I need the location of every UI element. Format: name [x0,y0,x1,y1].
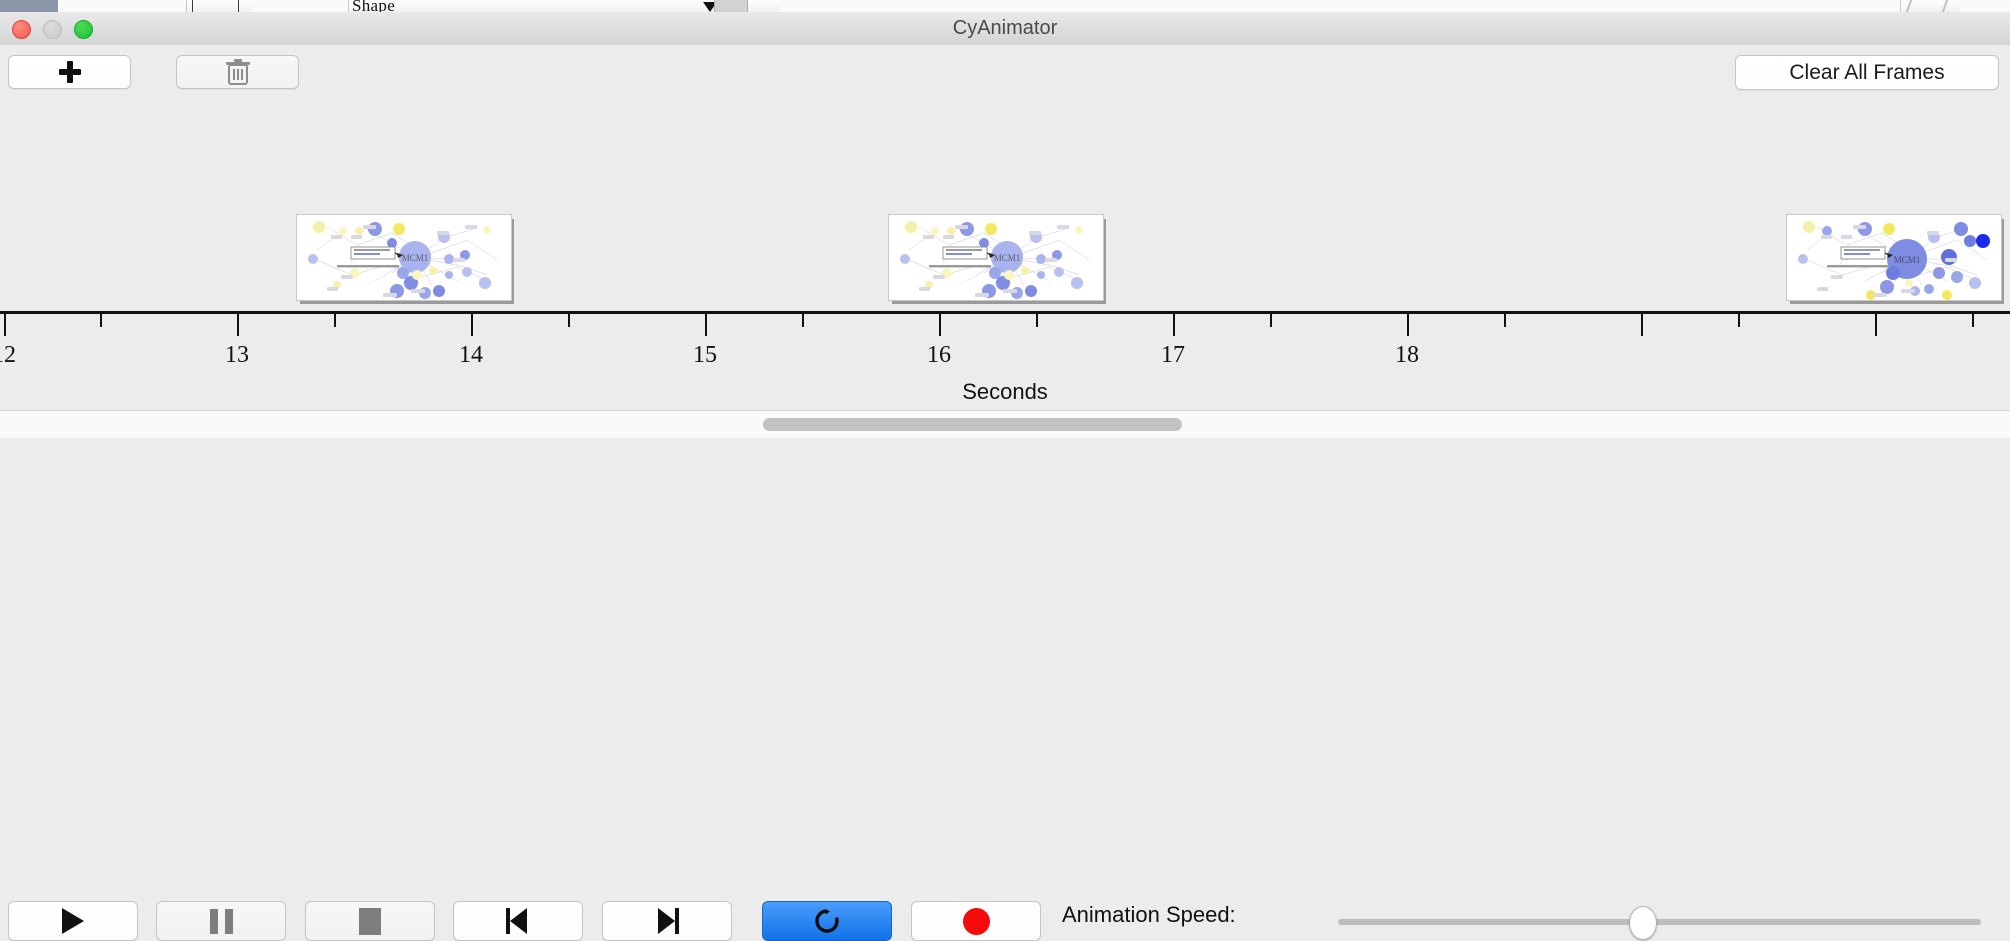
record-button[interactable] [911,901,1041,941]
delete-frame-button[interactable] [176,55,299,89]
thumbnail-center-node-label: MCM1 [994,253,1021,263]
skip-back-button[interactable] [453,901,583,941]
record-icon [963,908,990,935]
background-window-strip: Shape [0,0,2010,12]
axis-tick-label: 17 [1161,342,1185,369]
title-bar: CyAnimator [0,12,2010,46]
axis-tick-major [1407,314,1409,336]
timeline-frame[interactable]: MCM1 [1786,214,2008,306]
skip-forward-button[interactable] [602,901,732,941]
axis-tick-label: 15 [693,342,717,369]
background-window-label: Shape [352,0,395,12]
play-button[interactable] [8,901,138,941]
play-icon [62,908,84,934]
axis-tick-minor [1738,314,1740,327]
axis-title: Seconds [0,379,2010,405]
axis-tick-label: 16 [927,342,951,369]
axis-tick-minor [802,314,804,327]
axis-tick-major [237,314,239,336]
frame-toolbar [0,45,2010,93]
axis-tick-label: 13 [225,342,249,369]
timeline-frame[interactable]: MCM1 [296,214,518,306]
thumbnail-center-node-label: MCM1 [1894,255,1921,265]
animation-speed-slider[interactable] [1338,919,1981,925]
axis-tick-major [705,314,707,336]
window-title: CyAnimator [0,12,2010,45]
axis-tick-minor [100,314,102,327]
cyanimator-window: Shape CyAnimator Clear All Frames [0,0,2010,510]
animation-speed-label: Animation Speed: [1062,902,1236,928]
transport-bar: Animation Speed: [0,438,2010,510]
stop-icon [359,908,381,935]
loop-icon [812,906,842,936]
axis-tick-major [4,314,6,336]
axis-tick-major [1875,314,1877,336]
clear-all-frames-button[interactable]: Clear All Frames [1735,55,1999,90]
axis-tick-label: 14 [459,342,483,369]
timeline-frame[interactable]: MCM1 [888,214,1110,306]
timeline-scrollbar-track[interactable] [0,410,2010,440]
axis-tick-minor [334,314,336,327]
axis-tick-major [1173,314,1175,336]
timeline-panel[interactable]: 12 13 14 15 16 17 18 Seconds [0,92,2010,410]
animation-speed-slider-thumb[interactable] [1629,906,1657,940]
axis-tick-minor [1270,314,1272,327]
skip-forward-icon [654,908,680,934]
axis-tick-minor [1972,314,1974,327]
timeline-axis [0,311,2010,314]
axis-tick-minor [1036,314,1038,327]
skip-back-icon [505,908,531,934]
axis-tick-major [1641,314,1643,336]
pause-icon [210,909,233,934]
plus-icon [59,61,81,83]
stop-button[interactable] [305,901,435,941]
axis-tick-major [939,314,941,336]
axis-tick-minor [1504,314,1506,327]
add-frame-button[interactable] [8,55,131,89]
pause-button[interactable] [156,901,286,941]
thumbnail-center-node-label: MCM1 [402,253,429,263]
trash-icon [225,58,251,86]
axis-tick-minor [568,314,570,327]
loop-button[interactable] [762,901,892,941]
axis-tick-major [471,314,473,336]
axis-tick-label: 18 [1395,342,1419,369]
axis-tick-label: 12 [0,342,16,369]
timeline-scrollbar-thumb[interactable] [763,418,1182,431]
